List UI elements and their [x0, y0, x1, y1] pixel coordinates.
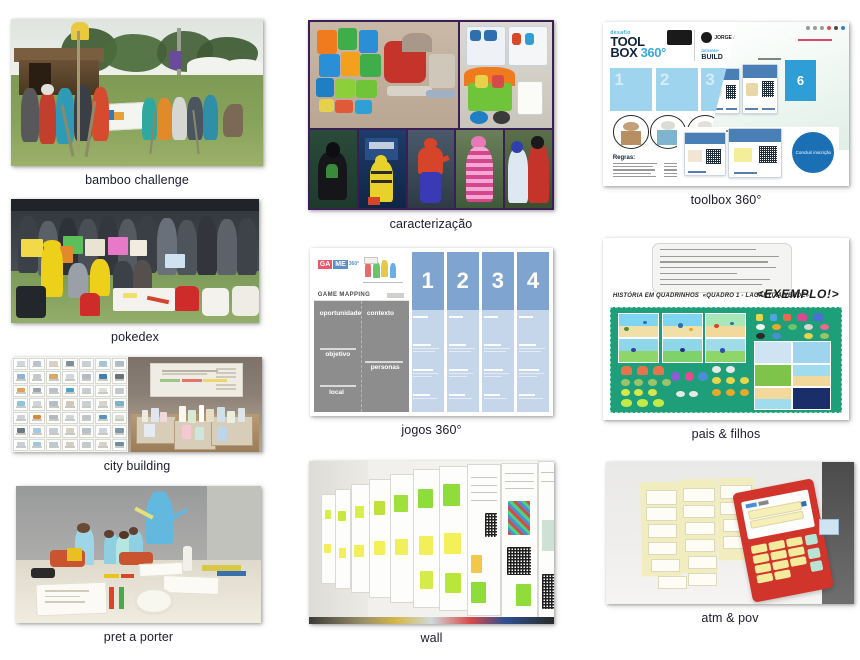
caption-jogos-360: jogos 360° [310, 423, 553, 438]
photo-atm-pov [606, 462, 854, 604]
record-icon[interactable] [827, 26, 831, 30]
thumbnail-pokedex[interactable] [11, 199, 259, 323]
caption-caracterizacao: caracterização [308, 217, 554, 232]
tool-card-2[interactable] [742, 64, 778, 113]
logo-me: ME [333, 260, 348, 269]
photo-wall [309, 461, 554, 624]
game-360-logo: GA ME 360° [318, 260, 359, 269]
gallery-item-toolbox-360[interactable]: desafio TOOL BOX 360° JORGE ALOY DESIGN+… [603, 22, 849, 208]
photo-city-models [128, 357, 262, 452]
composite-city-building [12, 357, 262, 452]
gallery-item-atm-pov[interactable]: atm & pov [606, 462, 854, 626]
logo-ga: GA [318, 260, 333, 269]
screen-badge-six: 6 [785, 60, 816, 101]
gallery-item-pokedex[interactable]: pokedex [11, 199, 259, 345]
gallery-item-bamboo-challenge[interactable]: bamboo challenge [11, 19, 263, 188]
step-card-2[interactable]: 2 [447, 252, 479, 412]
gallery-item-wall[interactable]: wall [309, 461, 554, 646]
photo-costume-4 [456, 130, 503, 208]
photo-toy-kits [310, 22, 458, 128]
collage-caracterizacao [308, 20, 554, 210]
reload-icon[interactable] [820, 26, 824, 30]
gallery-item-city-building[interactable]: city building [12, 357, 262, 474]
paper-atm-prototype [733, 478, 834, 602]
atm-screen [741, 489, 816, 539]
thumbnail-caracterizacao[interactable] [308, 20, 554, 210]
caption-toolbox-360: toolbox 360° [603, 193, 849, 208]
thumbnail-atm-pov[interactable] [606, 462, 854, 604]
caption-pret-a-porter: pret a porter [16, 630, 261, 645]
photo-pret-a-porter [16, 486, 261, 623]
sketch-illustration [363, 256, 405, 286]
card-deck-grid [12, 357, 128, 452]
caption-city-building: city building [12, 459, 262, 474]
canvas-title: GAME MAPPING [318, 292, 370, 298]
caption-pais-e-filhos: pais & filhos [603, 427, 849, 442]
canvas-jogos-360: GA ME 360° GAME MAPPING [310, 248, 553, 416]
thumbnail-toolbox-360[interactable]: desafio TOOL BOX 360° JORGE ALOY DESIGN+… [603, 22, 849, 186]
thumbnail-jogos-360[interactable]: GA ME 360° GAME MAPPING [310, 248, 553, 416]
gallery-item-pais-e-filhos[interactable]: HISTÓRIA EM QUADRINHOS «QUADRO 1 - LAGAR… [603, 238, 849, 442]
canvas-toolbox-360: desafio TOOL BOX 360° JORGE ALOY DESIGN+… [603, 22, 849, 186]
photo-costume-1 [310, 130, 357, 208]
menu-icon[interactable] [834, 26, 838, 30]
thumbnail-pais-e-filhos[interactable]: HISTÓRIA EM QUADRINHOS «QUADRO 1 - LAGAR… [603, 238, 849, 420]
label-personas: personas [371, 364, 400, 371]
photo-pokedex [11, 199, 259, 323]
label-objetivo: objetivo [325, 351, 350, 358]
step-number-1: 1 [412, 252, 444, 310]
avatar-circle-1 [613, 115, 649, 148]
thumbnail-pret-a-porter[interactable] [16, 486, 261, 623]
photo-bamboo-challenge [11, 19, 263, 166]
storyboard-area [610, 307, 841, 413]
example-label: <EXEMPLO!> [756, 287, 839, 301]
step-number-3: 3 [482, 252, 514, 310]
nav-back-icon[interactable] [806, 26, 810, 30]
logo-box: BOX [610, 45, 637, 60]
caption-bamboo-challenge: bamboo challenge [11, 173, 263, 188]
side-sticker [819, 519, 838, 535]
label-oportunidade: oportunidade [320, 310, 362, 317]
browser-controls[interactable] [806, 26, 845, 30]
thumbnail-wall[interactable] [309, 461, 554, 624]
submit-button[interactable]: Concluir inscrição [792, 132, 834, 173]
thumbnail-bamboo-challenge[interactable] [11, 19, 263, 166]
caption-atm-pov: atm & pov [606, 611, 854, 626]
program-logo: DESIGN+ BUILD [701, 47, 722, 61]
instructions-bubble [652, 243, 792, 292]
tool-card-4[interactable] [728, 128, 782, 178]
step-block-1[interactable]: 1 [610, 68, 652, 111]
step-number-4: 4 [517, 252, 549, 310]
photo-costume-3 [408, 130, 455, 208]
caption-wall: wall [309, 631, 554, 646]
screen-link[interactable] [798, 39, 832, 41]
logo-360: 360° [641, 45, 666, 60]
step-card-4[interactable]: 4 [517, 252, 549, 412]
step-number-2: 2 [447, 252, 479, 310]
nav-forward-icon[interactable] [813, 26, 817, 30]
toolbox-icon [667, 30, 692, 45]
logo-360: 360° [349, 261, 359, 267]
photo-toy-display [460, 22, 552, 128]
step-card-1[interactable]: 1 [412, 252, 444, 412]
tool-card-3[interactable] [684, 132, 725, 177]
gallery-item-pret-a-porter[interactable]: pret a porter [16, 486, 261, 645]
step-card-3[interactable]: 3 [482, 252, 514, 412]
projection-screen [150, 363, 243, 397]
gallery-item-caracterizacao[interactable]: caracterização [308, 20, 554, 232]
partner-badge-icon [701, 32, 712, 43]
project-gallery: bamboo challenge [0, 0, 860, 660]
thumbnail-city-building[interactable] [12, 357, 262, 452]
step-block-2[interactable]: 2 [656, 68, 698, 111]
label-local: local [329, 389, 344, 396]
photo-costume-2 [359, 130, 406, 208]
photo-costume-5 [505, 130, 552, 208]
caption-pokedex: pokedex [11, 330, 259, 345]
gallery-item-jogos-360[interactable]: GA ME 360° GAME MAPPING [310, 248, 553, 438]
label-contexto: contexto [367, 310, 394, 317]
canvas-pais-e-filhos: HISTÓRIA EM QUADRINHOS «QUADRO 1 - LAGAR… [603, 238, 849, 420]
account-icon[interactable] [841, 26, 845, 30]
